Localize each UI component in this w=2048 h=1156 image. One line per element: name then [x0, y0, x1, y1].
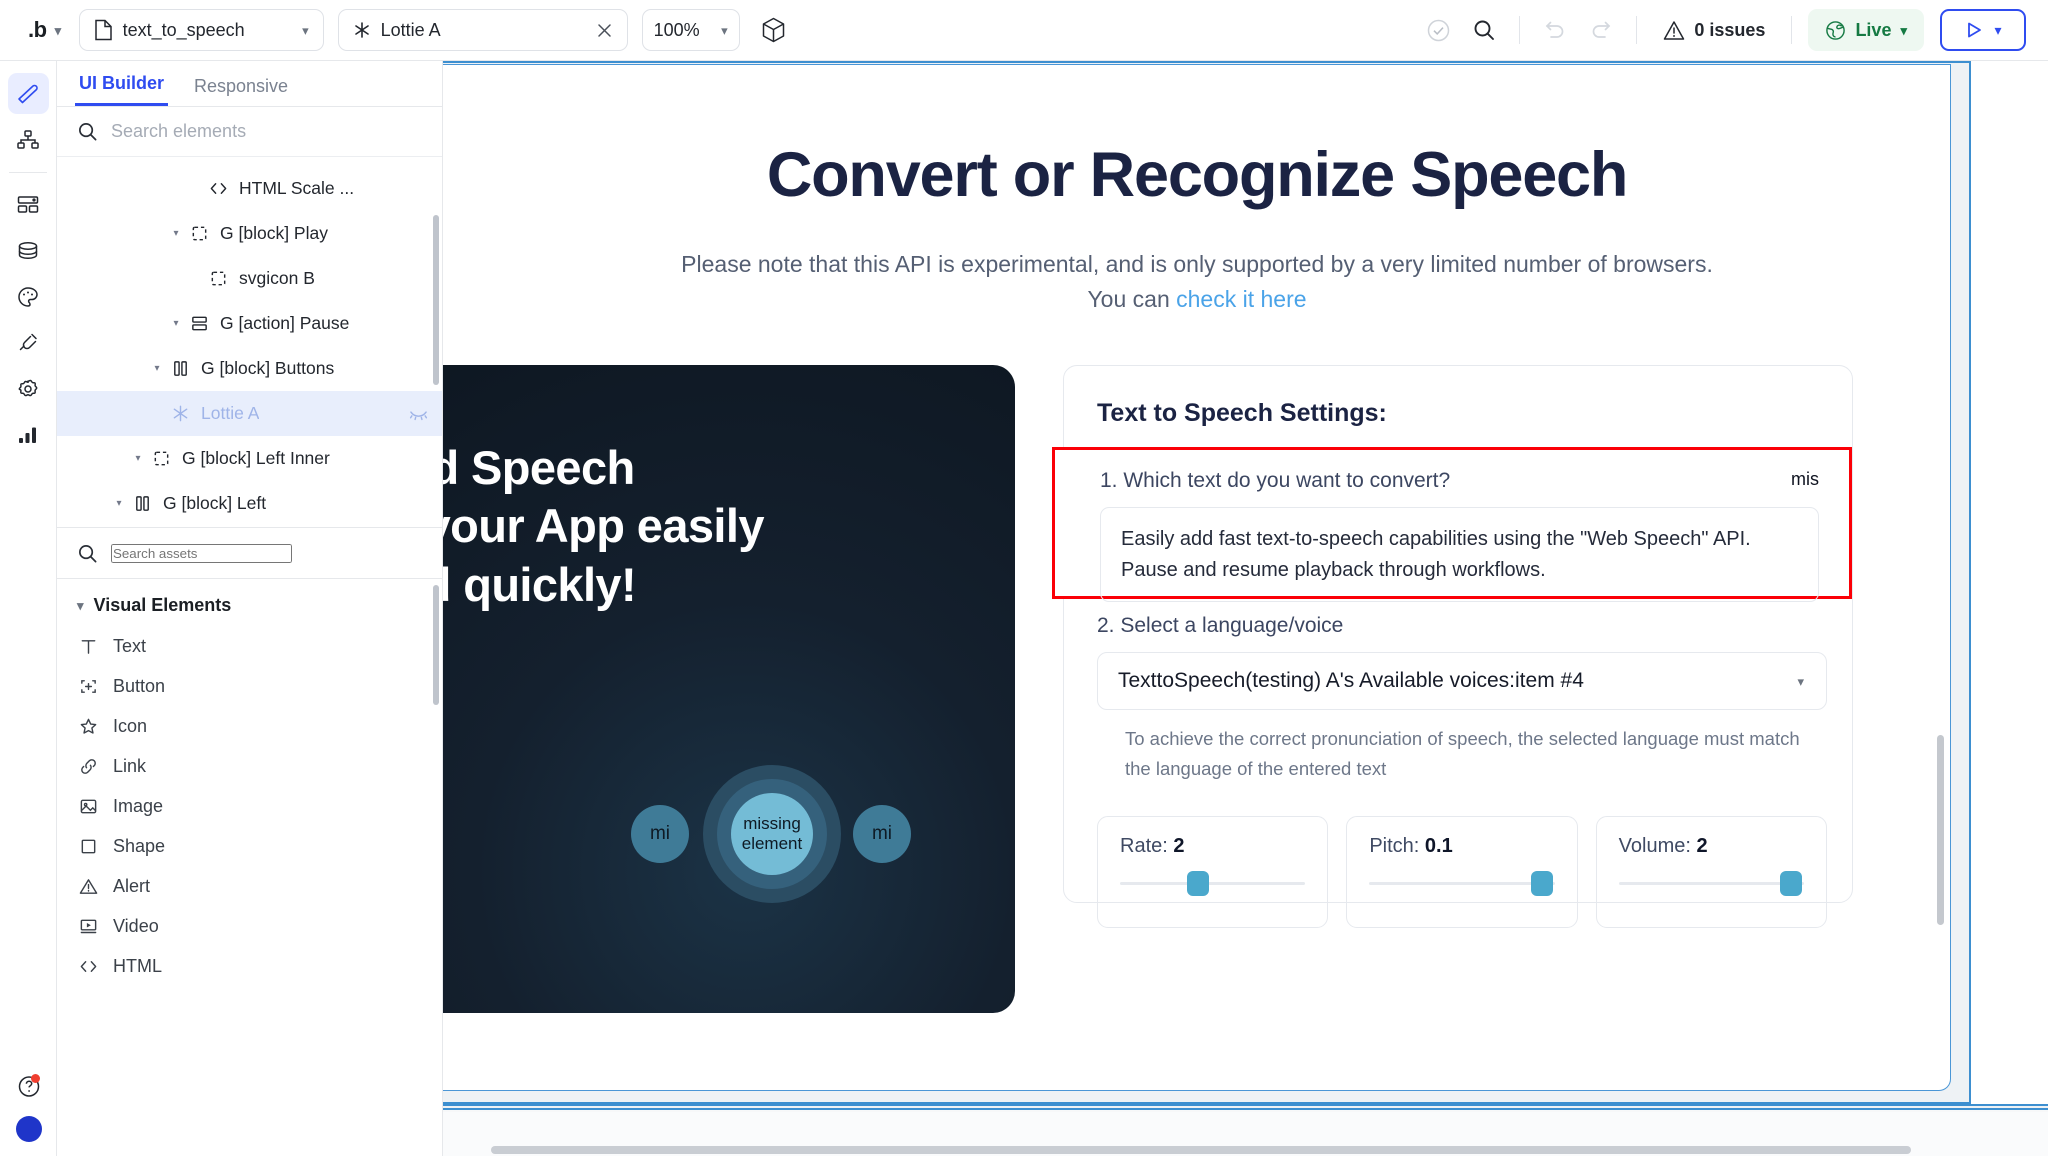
square-shape-icon	[77, 837, 99, 856]
element-search-row	[57, 107, 442, 157]
voice-select-value: TexttoSpeech(testing) A's Available voic…	[1118, 669, 1584, 693]
top-toolbar: .b ▾ text_to_speech ▾ Lottie A 1	[0, 0, 2048, 61]
zoom-value: 100%	[654, 20, 700, 41]
promo-title: Add Speech to your App easily and quickl…	[443, 365, 1015, 614]
live-status-button[interactable]: Live ▾	[1808, 9, 1924, 51]
tree-item[interactable]: HTML Scale ...	[57, 166, 442, 211]
tts-settings-card: Text to Speech Settings: 1. Which text d…	[1063, 365, 1853, 903]
visual-elements-header[interactable]: ▾ Visual Elements	[57, 579, 442, 626]
pronunciation-hint: To achieve the correct pronunciation of …	[1125, 724, 1827, 783]
tree-item[interactable]: ▾G [block] Play	[57, 211, 442, 256]
question-1-row: 1. Which text do you want to convert? mi…	[1055, 450, 1849, 493]
help-circle-icon[interactable]	[16, 1073, 42, 1104]
subtitle-prefix: You can	[1087, 286, 1176, 312]
slider-thumb[interactable]	[1531, 871, 1553, 896]
tree-disclosure-arrow[interactable]: ▾	[128, 453, 148, 464]
globe-icon	[1825, 20, 1846, 41]
canvas-frame-edge	[443, 1104, 2048, 1110]
rail-item-theme[interactable]	[8, 276, 49, 317]
link-chain-icon	[77, 757, 99, 776]
element-tree: HTML Scale ...▾G [block] Playsvgicon B▾G…	[57, 157, 442, 527]
tree-item[interactable]: ▾G [block] Left Inner	[57, 436, 442, 481]
alert-triangle-icon	[77, 877, 99, 896]
slider-card: Volume: 2	[1596, 816, 1827, 928]
star-icon	[77, 717, 99, 736]
panel-tabs: UI Builder Responsive	[57, 61, 442, 107]
slider-thumb[interactable]	[1780, 871, 1802, 896]
preview-play-button[interactable]: ▾	[1940, 9, 2026, 51]
tree-item-label: HTML Scale ...	[239, 178, 354, 199]
promo-title-line-3: and quickly!	[443, 556, 1015, 614]
element-item-video[interactable]: Video	[57, 906, 442, 946]
issues-button[interactable]: 0 issues	[1649, 20, 1779, 41]
check-circle-icon[interactable]	[1415, 7, 1461, 53]
slider-value: 0.1	[1425, 835, 1453, 857]
settings-title: Text to Speech Settings:	[1064, 366, 1852, 428]
redo-icon[interactable]	[1578, 7, 1624, 53]
file-selector[interactable]: text_to_speech ▾	[79, 9, 324, 51]
canvas-viewport: Convert or Recognize Speech Please note …	[443, 64, 1951, 1091]
ui-builder-panel: UI Builder Responsive HTML Scale ...▾G […	[57, 61, 443, 1156]
divider	[1636, 16, 1637, 44]
rail-item-layout[interactable]	[8, 184, 49, 225]
lottie-asterisk-icon	[167, 404, 193, 423]
dashed-box-icon	[186, 224, 212, 243]
element-item-label: HTML	[113, 956, 162, 977]
block-cols-icon	[167, 359, 193, 378]
subtitle-line-1: Please note that this API is experimenta…	[443, 247, 1951, 282]
element-tab-label: Lottie A	[381, 20, 441, 41]
block-cols-icon	[129, 494, 155, 513]
play-icon	[1964, 20, 1984, 40]
slider-value: 2	[1696, 835, 1707, 857]
slider-track[interactable]	[1369, 882, 1554, 885]
slider-card: Rate: 2	[1097, 816, 1328, 928]
question-2-label: 2. Select a language/voice	[1097, 614, 1827, 638]
cube-icon[interactable]	[756, 12, 792, 48]
element-item-label: Icon	[113, 716, 147, 737]
rail-item-plugins[interactable]	[8, 322, 49, 363]
slider-caption: Rate: 2	[1120, 835, 1305, 858]
asset-search-row	[57, 527, 442, 579]
brand-menu[interactable]: .b ▾	[22, 17, 65, 43]
tree-item-label: G [block] Play	[220, 223, 328, 244]
tab-responsive[interactable]: Responsive	[190, 76, 292, 106]
tree-disclosure-arrow[interactable]: ▾	[147, 363, 167, 374]
tree-disclosure-arrow[interactable]: ▾	[109, 498, 129, 509]
left-icon-rail	[0, 61, 57, 1156]
missing-element-badge: mis	[1791, 469, 1819, 490]
element-item-shape[interactable]: Shape	[57, 826, 442, 866]
undo-icon[interactable]	[1532, 7, 1578, 53]
lottie-animation: mi missing element mi	[443, 757, 1015, 957]
element-item-text[interactable]: Text	[57, 626, 442, 666]
speech-promo-card: Add Speech to your App easily and quickl…	[443, 365, 1015, 1013]
page-scrollbar[interactable]	[1937, 735, 1944, 925]
tree-disclosure-arrow[interactable]: ▾	[166, 228, 186, 239]
element-item-alert[interactable]: Alert	[57, 866, 442, 906]
toolbar-right-group: 0 issues Live ▾ ▾	[1415, 7, 2026, 53]
lottie-asterisk-icon	[353, 21, 371, 39]
question-1-label: 1. Which text do you want to convert?	[1100, 469, 1450, 493]
page-title: Convert or Recognize Speech	[443, 139, 1951, 211]
video-icon	[77, 917, 99, 936]
slider-caption: Volume: 2	[1619, 835, 1804, 858]
close-icon[interactable]	[596, 22, 613, 39]
chevron-down-icon: ▾	[721, 24, 728, 37]
dashed-box-icon	[148, 449, 174, 468]
tree-item-label: G [block] Buttons	[201, 358, 334, 379]
brand-logo: .b	[28, 17, 47, 43]
rendered-page: Convert or Recognize Speech Please note …	[443, 65, 1951, 1091]
code-icon	[77, 957, 99, 976]
chevron-down-icon: ▾	[1900, 24, 1907, 37]
element-item-label: Link	[113, 756, 146, 777]
asset-search-input[interactable]	[111, 544, 292, 563]
element-tab[interactable]: Lottie A	[338, 9, 628, 51]
element-item-html[interactable]: HTML	[57, 946, 442, 986]
bubble-right: mi	[853, 805, 911, 863]
rail-item-settings[interactable]	[8, 368, 49, 409]
search-icon[interactable]	[1461, 7, 1507, 53]
tree-item-label: G [block] Left Inner	[182, 448, 330, 469]
tree-item-label: svgicon B	[239, 268, 315, 289]
live-label: Live	[1855, 20, 1891, 41]
search-input[interactable]	[111, 121, 422, 142]
visual-elements-list: ▾ Visual Elements TextButtonIconLinkImag…	[57, 579, 442, 1156]
question-2-block: 2. Select a language/voice TexttoSpeech(…	[1097, 614, 1827, 783]
canvas-area: Convert or Recognize Speech Please note …	[443, 61, 2048, 1156]
slider-thumb[interactable]	[1187, 871, 1209, 896]
element-item-label: Button	[113, 676, 165, 697]
slider-label: Pitch:	[1369, 835, 1419, 857]
image-icon	[77, 797, 99, 816]
element-item-image[interactable]: Image	[57, 786, 442, 826]
subtitle-line-2: You can check it here	[443, 282, 1951, 317]
slider-label: Rate:	[1120, 835, 1168, 857]
visual-elements-title: Visual Elements	[94, 595, 232, 616]
element-item-link[interactable]: Link	[57, 746, 442, 786]
tree-scrollbar[interactable]	[433, 215, 439, 385]
chevron-down-icon: ▾	[302, 24, 309, 37]
element-item-label: Text	[113, 636, 146, 657]
rail-bottom-group	[0, 1073, 57, 1142]
divider	[1519, 16, 1520, 44]
avatar[interactable]	[16, 1116, 42, 1142]
canvas-horizontal-scrollbar[interactable]	[491, 1146, 1911, 1154]
slider-group: Rate: 2Pitch: 0.1Volume: 2	[1097, 816, 1827, 928]
promo-title-line-2: to your App easily	[443, 497, 1015, 555]
element-item-label: Alert	[113, 876, 150, 897]
selected-block-highlight: 1. Which text do you want to convert? mi…	[1052, 447, 1852, 599]
code-icon	[205, 179, 231, 198]
slider-value: 2	[1173, 835, 1184, 857]
element-item-label: Image	[113, 796, 163, 817]
element-item-label: Video	[113, 916, 159, 937]
voice-select[interactable]: TexttoSpeech(testing) A's Available voic…	[1097, 652, 1827, 710]
warning-triangle-icon	[1663, 20, 1685, 41]
chevron-down-icon: ▾	[1994, 23, 2001, 37]
dashed-box-icon	[205, 269, 231, 288]
promo-title-line-1: Add Speech	[443, 439, 1015, 497]
chevron-down-icon: ▾	[55, 24, 61, 37]
search-icon	[77, 543, 98, 564]
chevron-down-icon: ▾	[77, 599, 84, 612]
notification-dot	[31, 1074, 40, 1083]
text-t-icon	[77, 637, 99, 656]
block-rows-icon	[186, 314, 212, 333]
rail-item-sitemap[interactable]	[8, 119, 49, 160]
chevron-down-icon: ▾	[1797, 675, 1804, 688]
check-it-here-link[interactable]: check it here	[1176, 286, 1306, 312]
file-name: text_to_speech	[123, 20, 245, 41]
tab-ui-builder[interactable]: UI Builder	[75, 73, 168, 106]
divider	[1791, 16, 1792, 44]
tree-item-actions	[409, 404, 428, 423]
slider-label: Volume:	[1619, 835, 1691, 857]
tree-item[interactable]: Lottie A	[57, 391, 442, 436]
element-item-label: Shape	[113, 836, 165, 857]
element-item-icon[interactable]: Icon	[57, 706, 442, 746]
issues-label: 0 issues	[1694, 20, 1765, 41]
tree-item[interactable]: ▾G [action] Pause	[57, 301, 442, 346]
tree-disclosure-arrow[interactable]: ▾	[166, 318, 186, 329]
slider-track[interactable]	[1619, 882, 1804, 885]
slider-caption: Pitch: 0.1	[1369, 835, 1554, 858]
zoom-selector[interactable]: 100% ▾	[642, 9, 740, 51]
file-icon	[94, 19, 113, 41]
canvas-bottom-strip	[443, 1112, 2048, 1156]
rail-item-analytics[interactable]	[8, 414, 49, 455]
tree-item-label: G [block] Left	[163, 493, 266, 514]
elements-scrollbar[interactable]	[433, 585, 439, 705]
button-plus-icon	[77, 677, 99, 696]
slider-track[interactable]	[1120, 882, 1305, 885]
tree-item[interactable]: ▾G [block] Buttons	[57, 346, 442, 391]
element-item-button[interactable]: Button	[57, 666, 442, 706]
canvas-frame-outline: Convert or Recognize Speech Please note …	[443, 61, 1971, 1104]
page-subtitle: Please note that this API is experimenta…	[443, 247, 1951, 316]
bubble-center: missing element	[731, 793, 813, 875]
tree-item-label: G [action] Pause	[220, 313, 349, 334]
tree-item[interactable]: ▾G [block] Text To Speech	[57, 526, 442, 527]
slider-card: Pitch: 0.1	[1346, 816, 1577, 928]
eye-off-icon[interactable]	[409, 404, 428, 423]
bubble-left: mi	[631, 805, 689, 863]
convert-text-textarea[interactable]: Easily add fast text-to-speech capabilit…	[1100, 507, 1819, 602]
tree-item-label: Lottie A	[201, 403, 259, 424]
tree-item[interactable]: ▾G [block] Left	[57, 481, 442, 526]
rail-item-design[interactable]	[8, 73, 49, 114]
rail-item-database[interactable]	[8, 230, 49, 271]
tree-item[interactable]: svgicon B	[57, 256, 442, 301]
search-icon	[77, 121, 98, 142]
canvas-gutter	[1971, 61, 2048, 1104]
divider	[9, 172, 47, 173]
